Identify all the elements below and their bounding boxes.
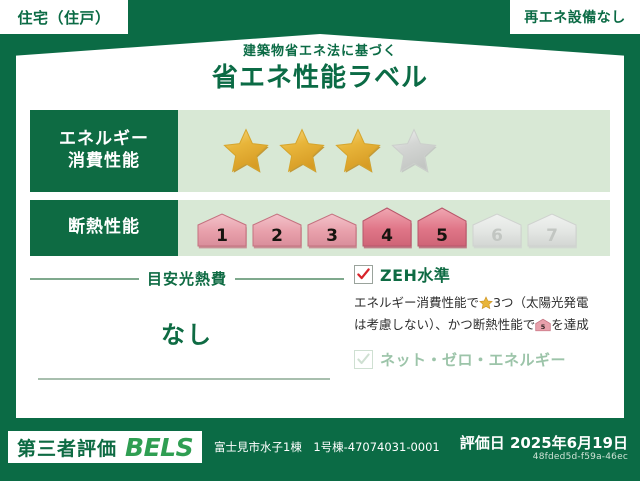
- utility-cost-value: なし: [30, 315, 344, 350]
- label-body-card: エネルギー 消費性能 断熱性能 1234567 目安光熱費 なし: [16, 96, 624, 418]
- star-filled-icon: [278, 127, 326, 175]
- utility-cost-block: 目安光熱費 なし: [30, 268, 344, 406]
- star-rating: [178, 110, 610, 192]
- insulation-level-4: 4: [361, 207, 413, 250]
- insulation-level-3: 3: [306, 213, 358, 250]
- bels-energy-performance-label: 住宅（住戸） 再エネ設備なし 建築物省エネ法に基づく 省エネ性能ラベル エネルギ…: [0, 0, 640, 481]
- row-insulation-key-line1: 断熱性能: [68, 217, 140, 239]
- inline-level-chip: 5: [535, 318, 551, 337]
- insulation-level-1: 1: [196, 213, 248, 250]
- insulation-level-7: 7: [526, 213, 578, 250]
- checkbox-net-zero-energy[interactable]: [354, 350, 373, 369]
- zeh-block: ZEH水準 エネルギー消費性能で 3つ（太陽光発電 は考慮しない）、かつ断熱性能…: [354, 262, 610, 370]
- inline-chip-label: 5: [541, 323, 546, 331]
- bels-logo-jp: 第三者評価: [17, 434, 117, 461]
- divider-line: [38, 378, 330, 380]
- tag-building-type: 住宅（住戸）: [0, 0, 128, 34]
- zeh-title-row: ZEH水準: [354, 262, 610, 286]
- rule-left: [30, 278, 139, 280]
- utility-cost-heading-text: 目安光熱費: [147, 268, 227, 289]
- zeh-description: エネルギー消費性能で 3つ（太陽光発電 は考慮しない）、かつ断熱性能で 5 を達…: [354, 293, 610, 338]
- footer: 第三者評価 BELS 富士見市水子1棟 1号棟-47074031-0001 評価…: [0, 423, 640, 481]
- bels-logo-en: BELS: [125, 433, 193, 462]
- row-energy-key-line2: 消費性能: [68, 151, 140, 173]
- rule-right: [235, 278, 344, 280]
- bels-logo: 第三者評価 BELS: [8, 431, 202, 463]
- evaluation-date: 評価日 2025年6月19日: [460, 432, 628, 453]
- row-insulation-key: 断熱性能: [30, 200, 178, 256]
- inline-star-icon: [479, 296, 493, 315]
- checkbox-zeh[interactable]: [354, 265, 373, 284]
- zeh-title-text: ZEH水準: [380, 262, 450, 286]
- certificate-hash: 48fded5d-f59a-46ec: [533, 452, 628, 462]
- insulation-level-2: 2: [251, 213, 303, 250]
- insulation-level-6: 6: [471, 213, 523, 250]
- evaluation-date-label: 評価日: [460, 434, 505, 452]
- zeh-desc-part3: を達成: [551, 317, 589, 332]
- property-address: 富士見市水子1棟 1号棟-47074031-0001: [214, 439, 440, 455]
- row-energy-performance: エネルギー 消費性能: [30, 110, 610, 192]
- row-energy-key-line1: エネルギー: [59, 129, 149, 151]
- star-empty-icon: [390, 127, 438, 175]
- row-energy-key: エネルギー 消費性能: [30, 110, 178, 192]
- page-title: 省エネ性能ラベル: [0, 57, 640, 94]
- tag-renewable-equipment: 再エネ設備なし: [510, 0, 640, 34]
- net-zero-energy-row: ネット・ゼロ・エネルギー: [354, 349, 610, 370]
- zeh-desc-star-count: 3つ（太陽光発電: [493, 295, 588, 310]
- evaluation-date-value: 2025年6月19日: [510, 434, 628, 452]
- star-filled-icon: [222, 127, 270, 175]
- net-zero-energy-label: ネット・ゼロ・エネルギー: [380, 349, 566, 370]
- insulation-level-5: 5: [416, 207, 468, 250]
- star-filled-icon: [334, 127, 382, 175]
- zeh-desc-part1: エネルギー消費性能で: [354, 295, 479, 310]
- zeh-desc-part2: は考慮しない）、かつ断熱性能で: [354, 317, 535, 332]
- insulation-scale: 1234567: [178, 200, 610, 256]
- utility-cost-heading: 目安光熱費: [30, 268, 344, 289]
- row-insulation-performance: 断熱性能 1234567: [30, 200, 610, 256]
